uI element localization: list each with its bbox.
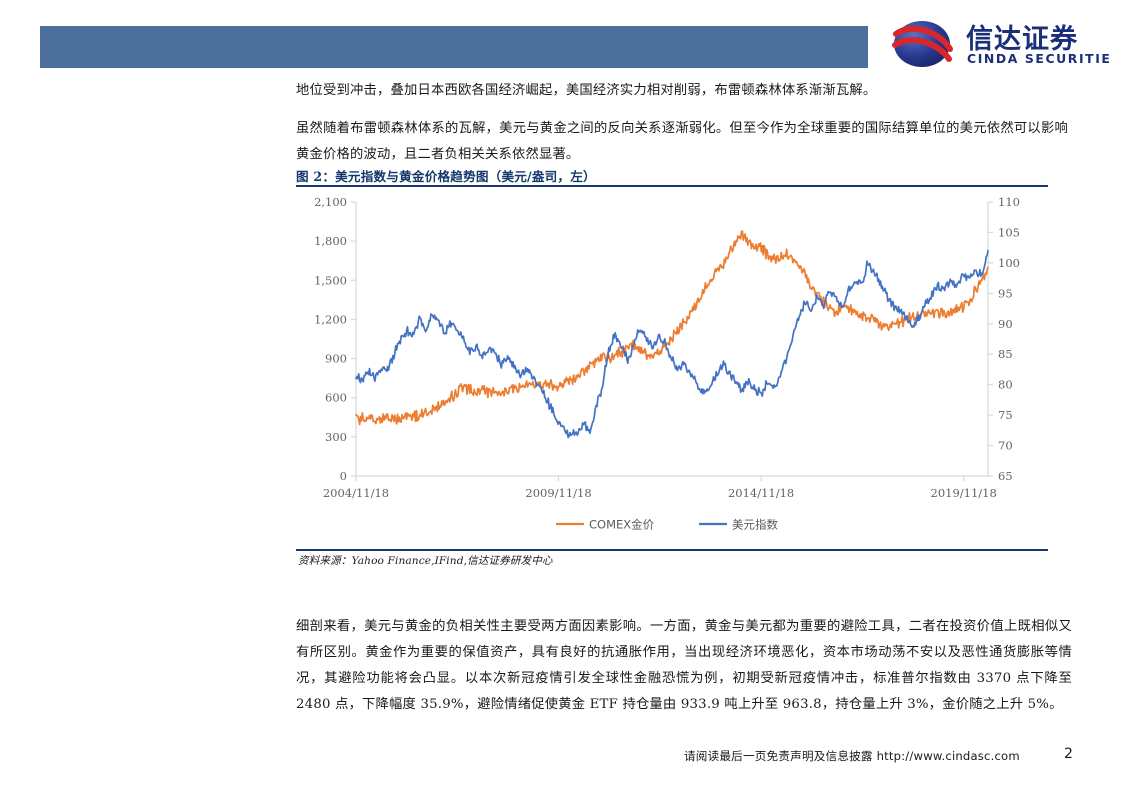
left-axis-tick-label: 1,500 (314, 273, 347, 287)
right-axis-tick-label: 110 (998, 195, 1020, 209)
right-axis-tick-label: 95 (998, 286, 1013, 300)
series-line-2 (356, 251, 988, 438)
paragraph-dollar-gold-relation: 虽然随着布雷顿森林体系的瓦解，美元与黄金之间的反向关系逐渐弱化。但至今作为全球重… (296, 116, 1068, 168)
page-number: 2 (1064, 746, 1073, 762)
left-axis-tick-label: 900 (325, 352, 347, 366)
right-axis-tick-label: 80 (998, 378, 1013, 392)
right-axis-tick-label: 70 (998, 439, 1013, 453)
legend-label-2: 美元指数 (732, 518, 778, 532)
svg-text:CINDA SECURITIES: CINDA SECURITIES (967, 51, 1110, 66)
right-axis-tick-label: 100 (998, 256, 1020, 270)
x-axis-tick-label: 2014/11/18 (728, 486, 794, 500)
series-line-1 (356, 231, 988, 424)
x-axis-tick-label: 2019/11/18 (931, 486, 997, 500)
left-axis-tick-label: 1,200 (314, 312, 347, 326)
left-axis-tick-label: 0 (340, 469, 347, 483)
right-axis-tick-label: 65 (998, 469, 1013, 483)
right-axis-tick-label: 90 (998, 317, 1013, 331)
x-axis-tick-label: 2009/11/18 (525, 486, 591, 500)
figure-rule-bottom (296, 549, 1048, 551)
right-axis-tick-label: 105 (998, 225, 1020, 239)
left-axis-tick-label: 300 (325, 430, 347, 444)
legend-label-1: COMEX金价 (589, 518, 655, 532)
header-brand-bar (40, 26, 868, 68)
footer-disclaimer: 请阅读最后一页免责声明及信息披露 http://www.cindasc.com (684, 748, 1020, 764)
left-axis-tick-label: 1,800 (314, 234, 347, 248)
paragraph-intro-continued: 地位受到冲击，叠加日本西欧各国经济崛起，美国经济实力相对削弱，布雷顿森林体系渐渐… (296, 78, 1068, 104)
left-axis-tick-label: 600 (325, 391, 347, 405)
right-axis-tick-label: 75 (998, 408, 1013, 422)
x-axis-tick-label: 2004/11/18 (323, 486, 389, 500)
cinda-securities-logo: 信达证券 CINDA SECURITIES (890, 16, 1110, 72)
chart-dollar-index-vs-gold: 03006009001,2001,5001,8002,1006570758085… (296, 188, 1048, 548)
footer-disclaimer-text: 请阅读最后一页免责声明及信息披露 (684, 749, 873, 763)
figure-rule-top (296, 185, 1048, 187)
figure-title: 图 2：美元指数与黄金价格趋势图（美元/盎司，左） (296, 166, 596, 185)
footer-url[interactable]: http://www.cindasc.com (877, 749, 1020, 763)
left-axis-tick-label: 2,100 (314, 195, 347, 209)
figure-source: 资料来源：Yahoo Finance,IFind,信达证券研发中心 (298, 553, 553, 568)
paragraph-safe-haven-analysis: 细剖来看，美元与黄金的负相关性主要受两方面因素影响。一方面，黄金与美元都为重要的… (296, 614, 1072, 718)
right-axis-tick-label: 85 (998, 347, 1013, 361)
document-page: 信达证券 CINDA SECURITIES 地位受到冲击，叠加日本西欧各国经济崛… (0, 0, 1122, 793)
